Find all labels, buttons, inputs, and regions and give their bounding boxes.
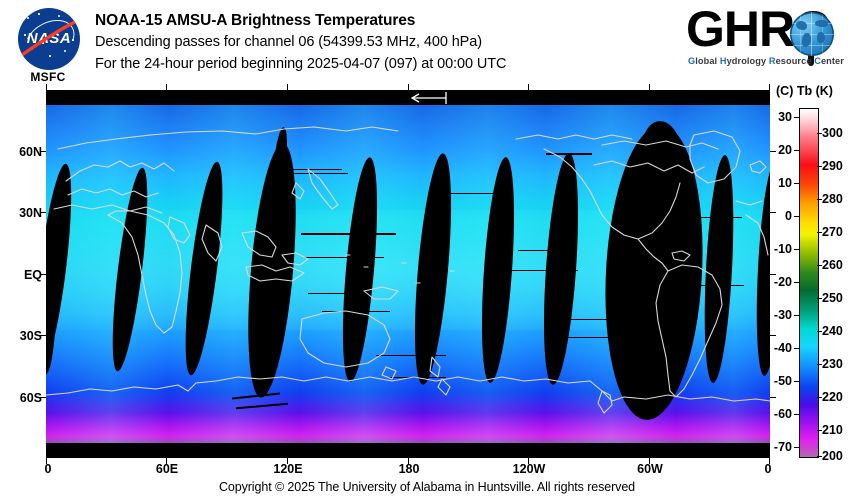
- nasa-logo: NASA MSFC: [10, 6, 86, 86]
- left-arrow-icon: [410, 92, 452, 104]
- y-axis-label: 30S: [20, 329, 42, 343]
- x-tick: [166, 84, 167, 90]
- colorbar-label-celsius: -30: [774, 308, 792, 322]
- colorbar-label-celsius: -10: [774, 242, 792, 256]
- title-subtitle-channel: Descending passes for channel 06 (54399.…: [95, 31, 675, 53]
- y-axis-label: EQ: [24, 268, 42, 282]
- colorbar-tick-left: [794, 216, 799, 217]
- colorbar-tick-left: [794, 381, 799, 382]
- y-axis-label: 60S: [20, 391, 42, 405]
- x-tick: [769, 84, 770, 90]
- colorbar-gradient: [799, 108, 819, 458]
- x-axis-label: 180: [399, 462, 420, 476]
- colorbar-label-kelvin: 280: [822, 192, 843, 206]
- colorbar-label-celsius: 10: [778, 176, 792, 190]
- colorbar-label-kelvin: 260: [822, 258, 843, 272]
- x-axis-label: 120E: [273, 462, 302, 476]
- x-tick: [528, 84, 529, 90]
- copyright-notice: Copyright © 2025 The University of Alaba…: [0, 480, 854, 494]
- y-axis-label: 30N: [19, 206, 42, 220]
- globe-icon: [790, 12, 834, 56]
- ghrc-tagline: Global Hydrology Resource Center: [688, 56, 846, 66]
- brightness-temperature-field: [46, 105, 770, 443]
- ghrc-logo: GHRC Global Hydrology Resource Center: [686, 6, 848, 74]
- x-tick: [408, 84, 409, 90]
- x-axis-label: 60W: [637, 462, 663, 476]
- colorbar-label-kelvin: 200: [822, 449, 843, 463]
- title-subtitle-period: For the 24-hour period beginning 2025-04…: [95, 53, 675, 75]
- nasa-swoosh-icon: [18, 14, 80, 64]
- nasa-meatball-icon: NASA: [18, 8, 80, 70]
- colorbar-label-kelvin: 250: [822, 291, 843, 305]
- colorbar-label-celsius: 20: [778, 143, 792, 157]
- x-axis-label: 0: [45, 462, 52, 476]
- map-plot-frame: [46, 90, 770, 458]
- colorbar-tick-left: [794, 348, 799, 349]
- page-root: NASA MSFC NOAA-15 AMSU-A Brightness Temp…: [0, 0, 854, 502]
- colorbar-tick-left: [794, 183, 799, 184]
- x-axis-label: 60E: [156, 462, 178, 476]
- colorbar-label-celsius: 0: [785, 209, 792, 223]
- colorbar-header: (C) Tb (K): [776, 84, 854, 98]
- colorbar-label-celsius: -40: [774, 341, 792, 355]
- colorbar-label-celsius: -70: [774, 440, 792, 454]
- colorbar-label-kelvin: 230: [822, 357, 843, 371]
- colorbar-label-kelvin: 290: [822, 159, 843, 173]
- x-axis-label: 120W: [513, 462, 546, 476]
- x-tick: [649, 84, 650, 90]
- colorbar-label-kelvin: 240: [822, 324, 843, 338]
- header-block: NOAA-15 AMSU-A Brightness Temperatures D…: [95, 10, 675, 75]
- colorbar-tick-left: [794, 249, 799, 250]
- colorbar-tick-left: [794, 150, 799, 151]
- colorbar-label-celsius: -20: [774, 275, 792, 289]
- map-canvas[interactable]: [46, 90, 770, 458]
- colorbar-tick-left: [794, 447, 799, 448]
- x-tick: [287, 84, 288, 90]
- colorbar-label-kelvin: 270: [822, 225, 843, 239]
- x-tick: [46, 84, 47, 90]
- page-title: NOAA-15 AMSU-A Brightness Temperatures: [95, 10, 675, 31]
- colorbar-tick-left: [794, 117, 799, 118]
- colorbar: (C) Tb (K) 30 20 10 0 -10 -20 -30 -40 -5…: [776, 84, 854, 466]
- colorbar-tick-left: [794, 414, 799, 415]
- colorbar-tick-left: [794, 282, 799, 283]
- coastline-overlay: [46, 105, 770, 443]
- colorbar-label-celsius: 30: [778, 110, 792, 124]
- nasa-center-label: MSFC: [10, 70, 86, 84]
- colorbar-label-celsius: -50: [774, 374, 792, 388]
- colorbar-tick-left: [794, 315, 799, 316]
- y-axis-label: 60N: [19, 145, 42, 159]
- colorbar-label-celsius: -60: [774, 407, 792, 421]
- colorbar-label-kelvin: 300: [822, 126, 843, 140]
- colorbar-label-kelvin: 220: [822, 390, 843, 404]
- colorbar-label-kelvin: 210: [822, 423, 843, 437]
- x-axis-label: 0: [765, 462, 772, 476]
